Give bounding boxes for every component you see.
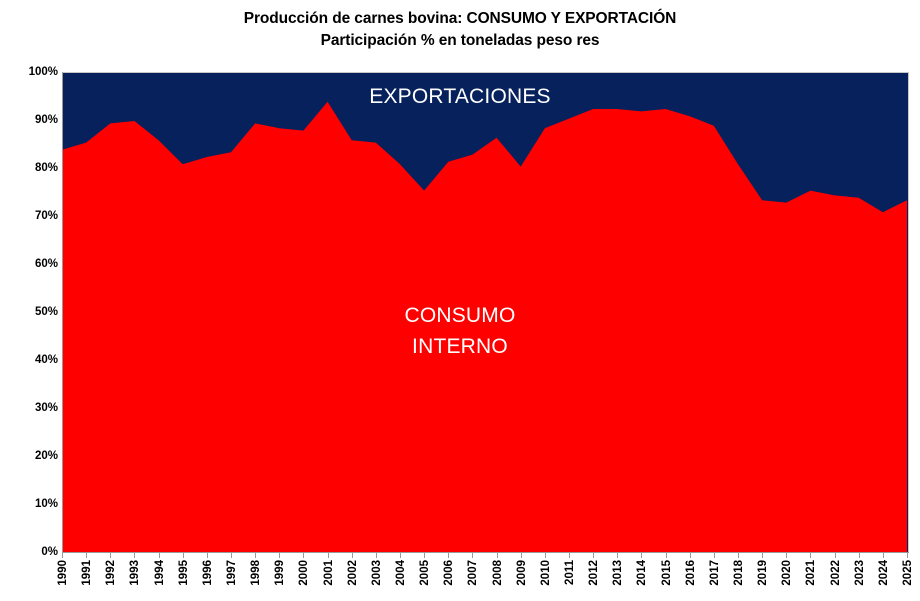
x-axis-tick-mark [352, 553, 353, 558]
x-axis-tick-mark [810, 553, 811, 558]
x-axis-tick-label: 2013 [612, 560, 624, 586]
x-axis-tick-mark [86, 553, 87, 558]
x-axis-tick-mark [255, 553, 256, 558]
x-axis-tick-label: 1996 [202, 560, 214, 586]
x-axis-tick-mark [183, 553, 184, 558]
x-axis-tick-label: 2010 [540, 560, 552, 586]
x-axis-tick-mark [545, 553, 546, 558]
y-axis-tick-label: 90% [4, 114, 58, 126]
x-axis-tick-label: 2015 [661, 560, 673, 586]
chart-title-line-2: Participación % en toneladas peso res [0, 30, 920, 52]
x-axis-tick-mark [666, 553, 667, 558]
chart-container: Producción de carnes bovina: CONSUMO Y E… [0, 0, 920, 601]
x-axis-tick-label: 1990 [57, 560, 69, 586]
x-axis-tick-mark [738, 553, 739, 558]
x-axis-tick-label: 2005 [419, 560, 431, 586]
x-axis-tick-mark [859, 553, 860, 558]
x-axis-tick-mark [786, 553, 787, 558]
x-axis-tick-mark [714, 553, 715, 558]
x-axis-tick-mark [134, 553, 135, 558]
x-axis-tick-label: 2007 [467, 560, 479, 586]
x-axis-tick-label: 2019 [757, 560, 769, 586]
x-axis-tick-label: 2012 [588, 560, 600, 586]
x-axis-tick-label: 1991 [81, 560, 93, 586]
x-axis-tick-mark [231, 553, 232, 558]
x-axis-tick-label: 2000 [298, 560, 310, 586]
x-axis-tick-mark [835, 553, 836, 558]
y-axis-tick-label: 10% [4, 498, 58, 510]
x-axis-tick-label: 2001 [323, 560, 335, 586]
x-axis-tick-mark [424, 553, 425, 558]
x-axis-tick-mark [303, 553, 304, 558]
series-label-exportaciones: EXPORTACIONES [0, 85, 920, 109]
x-axis-tick-label: 2020 [781, 560, 793, 586]
x-axis-tick-label: 2017 [709, 560, 721, 586]
x-axis-tick-label: 1998 [250, 560, 262, 586]
x-axis-tick-mark [593, 553, 594, 558]
x-axis-tick-label: 2008 [492, 560, 504, 586]
x-axis-tick-label: 2016 [685, 560, 697, 586]
series-label-consumo: CONSUMO INTERNO [0, 300, 920, 362]
x-axis-tick-mark [472, 553, 473, 558]
x-axis-tick-label: 2023 [854, 560, 866, 586]
x-axis-tick-label: 2025 [902, 560, 914, 586]
x-axis-tick-label: 2003 [371, 560, 383, 586]
x-axis-tick-label: 1999 [274, 560, 286, 586]
y-axis-tick-label: 100% [4, 66, 58, 78]
x-axis-tick-label: 2009 [516, 560, 528, 586]
y-axis-tick-label: 0% [4, 546, 58, 558]
chart-title-line-1: Producción de carnes bovina: CONSUMO Y E… [0, 8, 920, 30]
x-axis-tick-label: 2002 [347, 560, 359, 586]
x-axis-tick-label: 2021 [805, 560, 817, 586]
y-axis-tick-label: 80% [4, 162, 58, 174]
x-axis: 1990199119921993199419951996199719981999… [62, 553, 909, 601]
x-axis-tick-mark [883, 553, 884, 558]
x-axis-tick-mark [641, 553, 642, 558]
x-axis-tick-mark [907, 553, 908, 558]
x-axis-tick-mark [690, 553, 691, 558]
x-axis-tick-label: 1992 [105, 560, 117, 586]
x-axis-tick-mark [376, 553, 377, 558]
x-axis-tick-mark [400, 553, 401, 558]
x-axis-tick-label: 2004 [395, 560, 407, 586]
x-axis-tick-label: 1995 [178, 560, 190, 586]
chart-title: Producción de carnes bovina: CONSUMO Y E… [0, 8, 920, 52]
x-axis-tick-label: 2014 [636, 560, 648, 586]
x-axis-tick-label: 2006 [443, 560, 455, 586]
x-axis-tick-mark [62, 553, 63, 558]
x-axis-tick-mark [521, 553, 522, 558]
x-axis-tick-mark [762, 553, 763, 558]
x-axis-tick-label: 2011 [564, 560, 576, 585]
y-axis-tick-label: 70% [4, 210, 58, 222]
x-axis-tick-label: 1994 [154, 560, 166, 586]
series-label-consumo-line-2: INTERNO [0, 331, 920, 362]
x-axis-tick-label: 2018 [733, 560, 745, 586]
y-axis-tick-label: 60% [4, 258, 58, 270]
x-axis-tick-mark [110, 553, 111, 558]
x-axis-tick-label: 2022 [830, 560, 842, 586]
x-axis-tick-mark [617, 553, 618, 558]
x-axis-tick-mark [159, 553, 160, 558]
x-axis-tick-mark [569, 553, 570, 558]
y-axis-tick-label: 30% [4, 402, 58, 414]
x-axis-tick-mark [279, 553, 280, 558]
x-axis-tick-label: 1993 [129, 560, 141, 586]
x-axis-tick-label: 2024 [878, 560, 890, 586]
x-axis-tick-mark [207, 553, 208, 558]
x-axis-tick-mark [328, 553, 329, 558]
x-axis-tick-label: 1997 [226, 560, 238, 586]
x-axis-tick-mark [497, 553, 498, 558]
x-axis-tick-mark [448, 553, 449, 558]
series-label-consumo-line-1: CONSUMO [0, 300, 920, 331]
y-axis-tick-label: 20% [4, 450, 58, 462]
